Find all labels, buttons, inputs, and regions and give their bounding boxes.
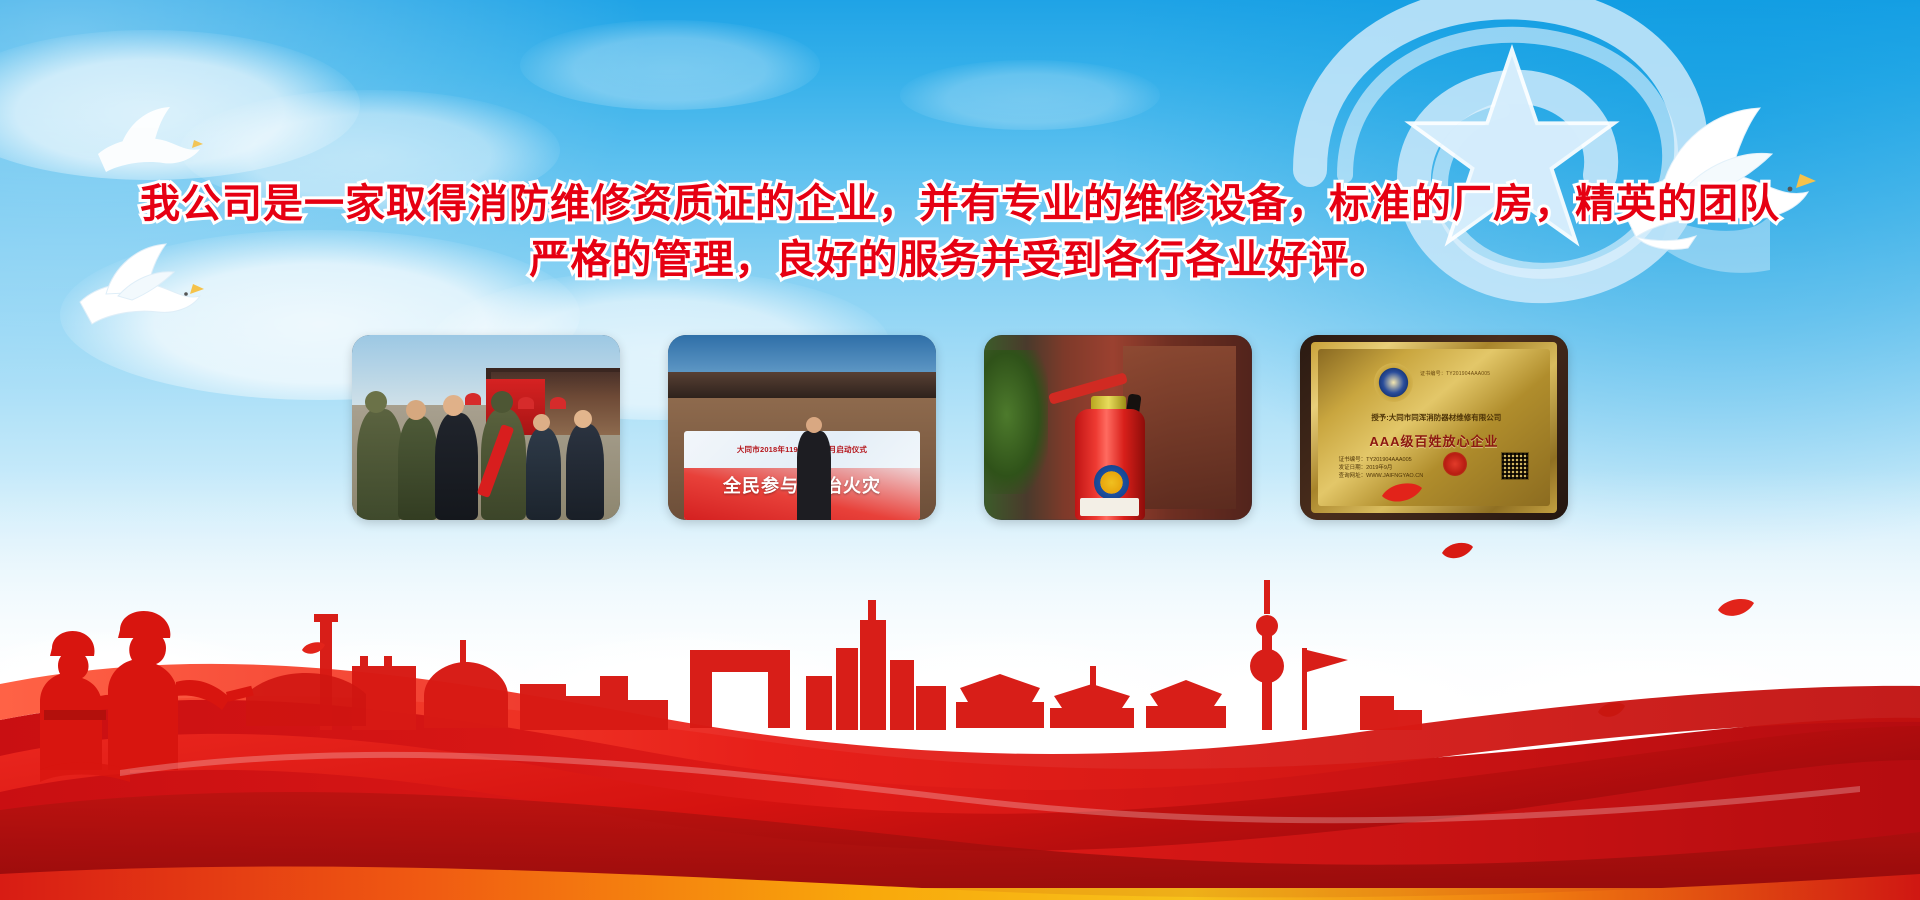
bottom-red-ribbon-graphics xyxy=(0,470,1920,900)
photo-fire-extinguisher[interactable] xyxy=(984,335,1252,520)
photo-leaders-inspection[interactable] xyxy=(352,335,620,520)
dove-right xyxy=(1600,92,1830,262)
cloud-wisp-4 xyxy=(900,60,1160,130)
plaque-cert-no: 证书编号：TY201904AAA005 xyxy=(1339,456,1424,464)
petal-2 xyxy=(1440,540,1474,567)
photo-award-plaque[interactable]: 证书编号：TY201904AAA005 授予:大同市同浑消防器材维修有限公司 A… xyxy=(1300,335,1568,520)
plaque-red-seal-icon xyxy=(1443,452,1467,476)
photo-119-ceremony[interactable]: 大同市2018年119消防宣传月启动仪式 全民参与 防治火灾 xyxy=(668,335,936,520)
dove-left-upper xyxy=(86,96,204,188)
plaque-issue-date: 发证日期：2019年9月 xyxy=(1339,464,1424,472)
petal-5 xyxy=(300,640,326,661)
plaque-query-site: 查询网址：WWW.JAIFNGYAO.CN xyxy=(1339,472,1424,480)
plaque-cert-no-top: 证书编号：TY201904AAA005 xyxy=(1420,370,1490,377)
petal-3 xyxy=(1716,596,1756,625)
plaque-qr-code-icon xyxy=(1501,452,1529,480)
banner-root: 我公司是一家取得消防维修资质证的企业，并有专业的维修设备，标准的厂房，精英的团队… xyxy=(0,0,1920,900)
petal-1 xyxy=(1380,480,1424,511)
petal-4 xyxy=(1596,700,1626,725)
plaque-main-title: AAA级百姓放心企业 xyxy=(1336,431,1531,450)
dove-left-lower xyxy=(62,230,212,340)
cloud-wisp-2 xyxy=(180,90,560,210)
photo-strip: 大同市2018年119消防宣传月启动仪式 全民参与 防治火灾 xyxy=(0,335,1920,525)
cloud-wisp-3 xyxy=(520,20,820,110)
plaque-seal-icon xyxy=(1374,363,1414,402)
plaque-grant-line: 授予:大同市同浑消防器材维修有限公司 xyxy=(1341,412,1532,423)
